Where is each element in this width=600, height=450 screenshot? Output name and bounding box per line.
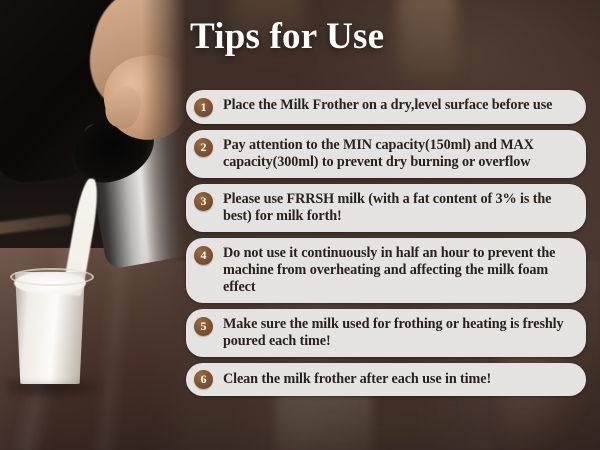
page-title: Tips for Use bbox=[190, 18, 384, 55]
tip-text: Place the Milk Frother on a dry,level su… bbox=[223, 97, 552, 114]
tip-text: Please use FRRSH milk (with a fat conten… bbox=[223, 191, 576, 225]
tip-number-badge: 6 bbox=[194, 370, 213, 389]
tip-text: Pay attention to the MIN capacity(150ml)… bbox=[223, 137, 576, 171]
tip-item: 2 Pay attention to the MIN capacity(150m… bbox=[186, 130, 586, 178]
tips-list: 1 Place the Milk Frother on a dry,level … bbox=[186, 90, 586, 396]
tip-number-badge: 5 bbox=[194, 317, 213, 336]
tip-number-badge: 4 bbox=[194, 246, 213, 265]
tip-item: 4 Do not use it continuously in half an … bbox=[186, 238, 586, 303]
tip-item: 3 Please use FRRSH milk (with a fat cont… bbox=[186, 184, 586, 232]
tip-item: 1 Place the Milk Frother on a dry,level … bbox=[186, 90, 586, 124]
tip-text: Clean the milk frother after each use in… bbox=[223, 371, 491, 388]
milk-pouring-photo bbox=[0, 0, 186, 450]
tip-number-badge: 2 bbox=[194, 138, 213, 157]
tip-text: Make sure the milk used for frothing or … bbox=[223, 316, 576, 350]
tip-number-badge: 3 bbox=[194, 192, 213, 211]
tips-panel: Tips for Use 1 Place the Milk Frother on… bbox=[186, 0, 600, 450]
product-tips-graphic: Tips for Use 1 Place the Milk Frother on… bbox=[0, 0, 600, 450]
photo-glass-rim bbox=[10, 268, 94, 286]
tip-item: 5 Make sure the milk used for frothing o… bbox=[186, 309, 586, 357]
tip-number-badge: 1 bbox=[194, 98, 213, 117]
tip-text: Do not use it continuously in half an ho… bbox=[223, 245, 576, 296]
tip-item: 6 Clean the milk frother after each use … bbox=[186, 363, 586, 396]
